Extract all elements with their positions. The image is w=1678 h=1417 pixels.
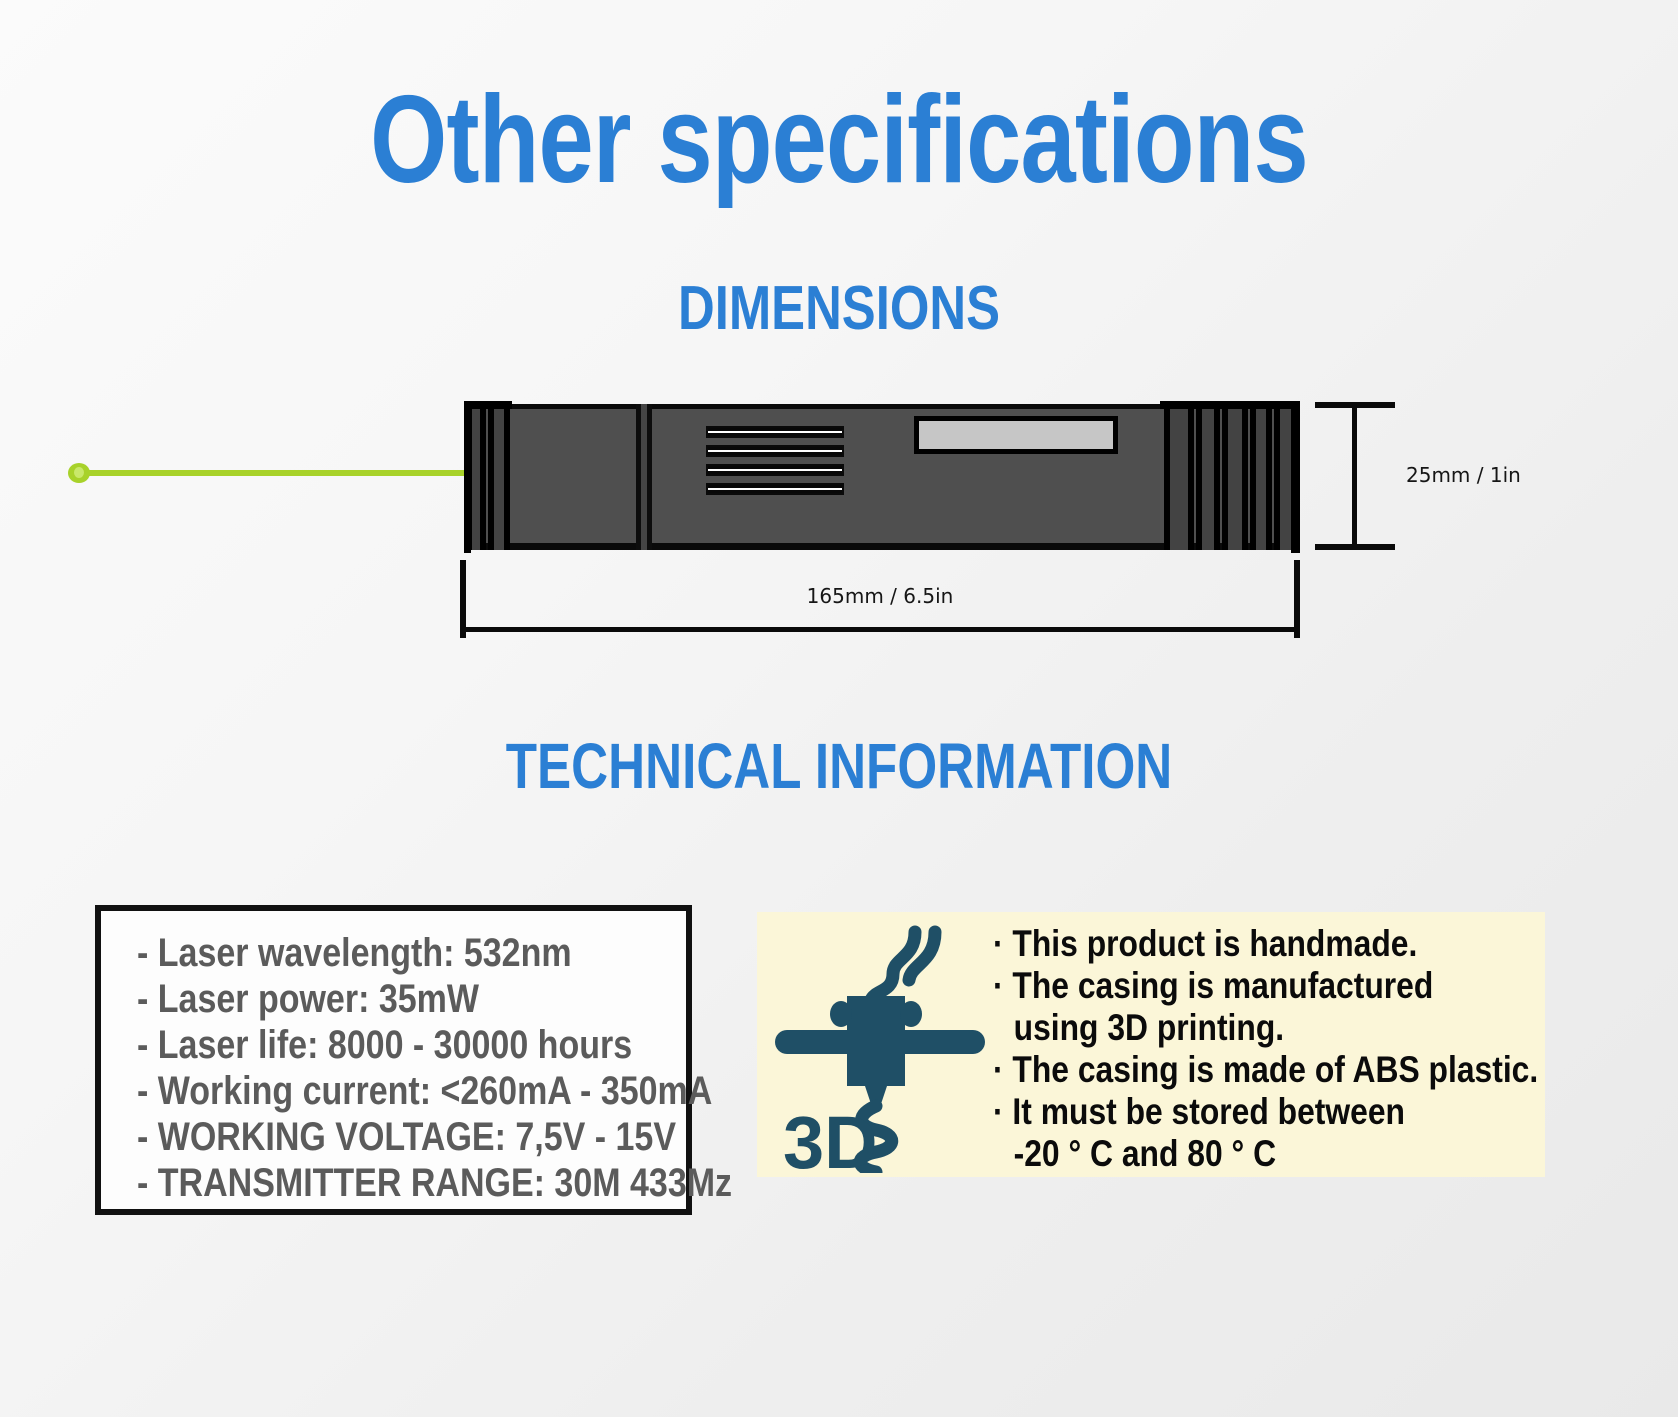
- dimension-cap-bottom: [1315, 544, 1395, 550]
- tail-ring-1: [1164, 404, 1194, 550]
- label-plate: [914, 416, 1118, 454]
- tail-ring-4: [1250, 404, 1272, 550]
- body-seam: [636, 404, 652, 550]
- front-ring-2: [488, 404, 510, 550]
- list-item: · This product is handmade.: [993, 924, 1464, 964]
- section-heading-technical: TECHNICAL INFORMATION: [168, 734, 1510, 798]
- list-item: - Laser life: 8000 - 30000 hours: [137, 1025, 595, 1066]
- list-item: - Laser wavelength: 532nm: [137, 933, 595, 974]
- notes-list: · This product is handmade. · The casing…: [993, 924, 1541, 1176]
- list-item: - WORKING VOLTAGE: 7,5V - 15V: [137, 1117, 595, 1158]
- list-item: using 3D printing.: [993, 1008, 1464, 1048]
- list-item: - Laser power: 35mW: [137, 979, 595, 1020]
- specifications-list: - Laser wavelength: 532nm - Laser power:…: [137, 933, 676, 1209]
- infographic-page: Other specifications DIMENSIONS: [0, 0, 1678, 1417]
- specifications-box: - Laser wavelength: 532nm - Laser power:…: [95, 905, 692, 1215]
- section-heading-dimensions: DIMENSIONS: [151, 278, 1527, 340]
- length-dimension-line: 165mm / 6.5in: [460, 560, 1300, 638]
- vent-slot: [706, 445, 844, 457]
- laser-beam: [88, 470, 468, 476]
- 3d-printer-icon: 3D: [765, 918, 995, 1173]
- dimension-stem: [460, 627, 1300, 632]
- vent-grille: [706, 426, 844, 496]
- beam-emitter-core: [74, 467, 84, 478]
- length-dimension-label: 165mm / 6.5in: [460, 584, 1300, 608]
- list-item: - TRANSMITTER RANGE: 30M 433Mz: [137, 1163, 595, 1204]
- height-dimension-label: 25mm / 1in: [1406, 463, 1521, 487]
- front-ring-1: [466, 404, 486, 550]
- height-dimension-line: [1315, 402, 1395, 550]
- printer-icon-label: 3D: [783, 1101, 878, 1173]
- laser-device-body: [464, 404, 1300, 550]
- vent-slot: [706, 483, 844, 495]
- list-item: · It must be stored between: [993, 1092, 1464, 1132]
- tail-ring-5: [1274, 404, 1298, 550]
- list-item: -20 ° C and 80 ° C: [993, 1134, 1464, 1174]
- tail-ring-3: [1222, 404, 1248, 550]
- tail-ring-2: [1196, 404, 1220, 550]
- vent-slot: [706, 426, 844, 438]
- notes-box: 3D · This product is handmade. · The cas…: [757, 912, 1545, 1177]
- list-item: - Working current: <260mA - 350mA: [137, 1071, 595, 1112]
- list-item: · The casing is made of ABS plastic.: [993, 1050, 1464, 1090]
- vent-slot: [706, 464, 844, 476]
- dimension-stem: [1352, 402, 1357, 550]
- page-title: Other specifications: [168, 78, 1510, 202]
- list-item: · The casing is manufactured: [993, 966, 1464, 1006]
